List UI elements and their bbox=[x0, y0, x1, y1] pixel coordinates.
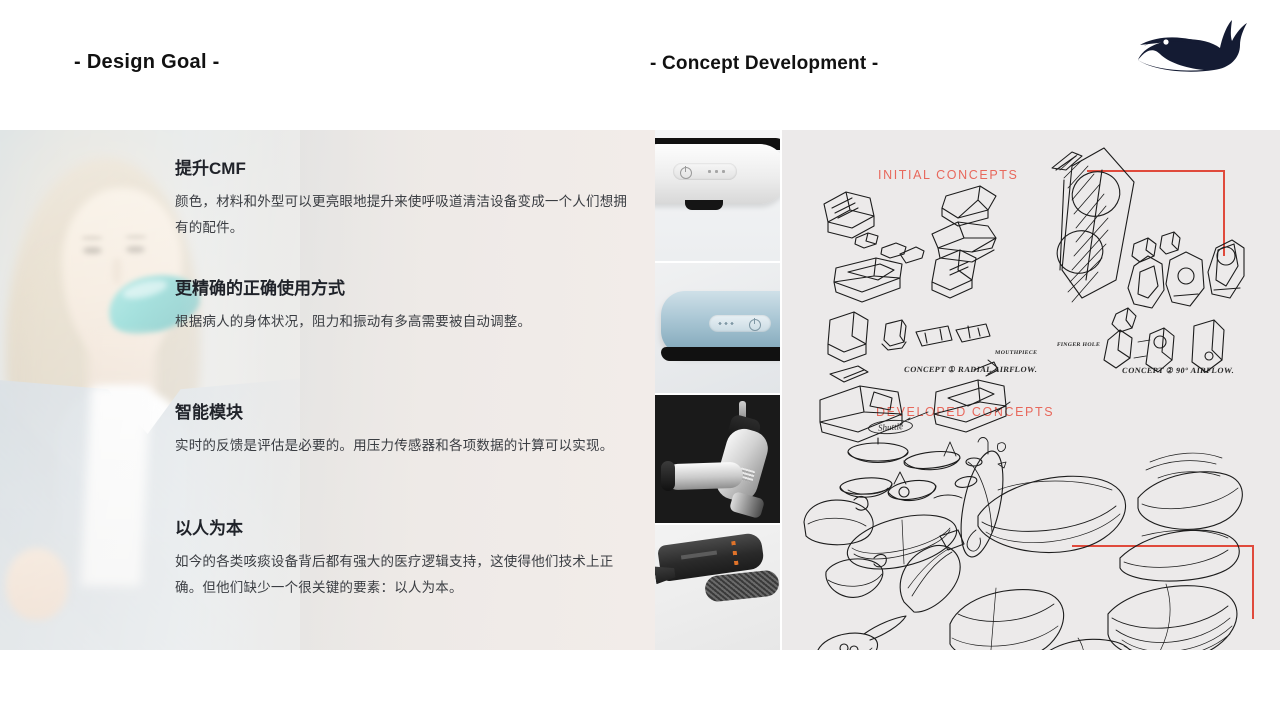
goal-heading: 提升CMF bbox=[175, 158, 635, 180]
goal-body: 颜色，材料和外型可以更亮眼地提升来使呼吸道清洁设备变成一个人们想拥有的配件。 bbox=[175, 189, 635, 242]
goal-block-3: 智能模块 实时的反馈是评估是必要的。用压力传感器和各项数据的计算可以实现。 bbox=[175, 402, 635, 459]
product-image-3 bbox=[655, 395, 780, 523]
content-band: 提升CMF 颜色，材料和外型可以更亮眼地提升来使呼吸道清洁设备变成一个人们想拥有… bbox=[0, 130, 1280, 650]
goal-block-4: 以人为本 如今的各类咳痰设备背后都有强大的医疗逻辑支持，这使得他们技术上正确。但… bbox=[175, 518, 635, 602]
product-image-strip bbox=[655, 130, 780, 650]
goal-body: 根据病人的身体状况，阻力和振动有多高需要被自动调整。 bbox=[175, 309, 635, 335]
goal-heading: 更精确的正确使用方式 bbox=[175, 278, 635, 300]
concept-sketch-panel: INITIAL CONCEPTS DEVELOPED CONCEPTS Shut… bbox=[782, 130, 1280, 650]
goal-heading: 智能模块 bbox=[175, 402, 635, 424]
page-title-design-goal: - Design Goal - bbox=[74, 51, 220, 74]
goal-block-1: 提升CMF 颜色，材料和外型可以更亮眼地提升来使呼吸道清洁设备变成一个人们想拥有… bbox=[175, 158, 635, 242]
goal-text-column: 提升CMF 颜色，材料和外型可以更亮眼地提升来使呼吸道清洁设备变成一个人们想拥有… bbox=[175, 130, 635, 650]
product-image-1 bbox=[655, 130, 780, 261]
concept-sketches-drawing bbox=[782, 130, 1280, 650]
product-image-4 bbox=[655, 525, 780, 650]
goal-body: 实时的反馈是评估是必要的。用压力传感器和各项数据的计算可以实现。 bbox=[175, 433, 635, 459]
goal-body: 如今的各类咳痰设备背后都有强大的医疗逻辑支持，这使得他们技术上正确。但他们缺少一… bbox=[175, 549, 635, 602]
design-goal-panel: 提升CMF 颜色，材料和外型可以更亮眼地提升来使呼吸道清洁设备变成一个人们想拥有… bbox=[0, 130, 655, 650]
page-header: - Design Goal - - Concept Development - bbox=[0, 0, 1280, 130]
goal-block-2: 更精确的正确使用方式 根据病人的身体状况，阻力和振动有多高需要被自动调整。 bbox=[175, 278, 635, 335]
page-title-concept-development: - Concept Development - bbox=[650, 53, 878, 75]
goal-heading: 以人为本 bbox=[175, 518, 635, 540]
power-button-graphic bbox=[709, 315, 771, 332]
page-footer bbox=[0, 650, 1280, 720]
whale-logo-icon bbox=[1128, 8, 1252, 78]
product-image-2 bbox=[655, 263, 780, 393]
power-button-graphic bbox=[673, 163, 737, 180]
